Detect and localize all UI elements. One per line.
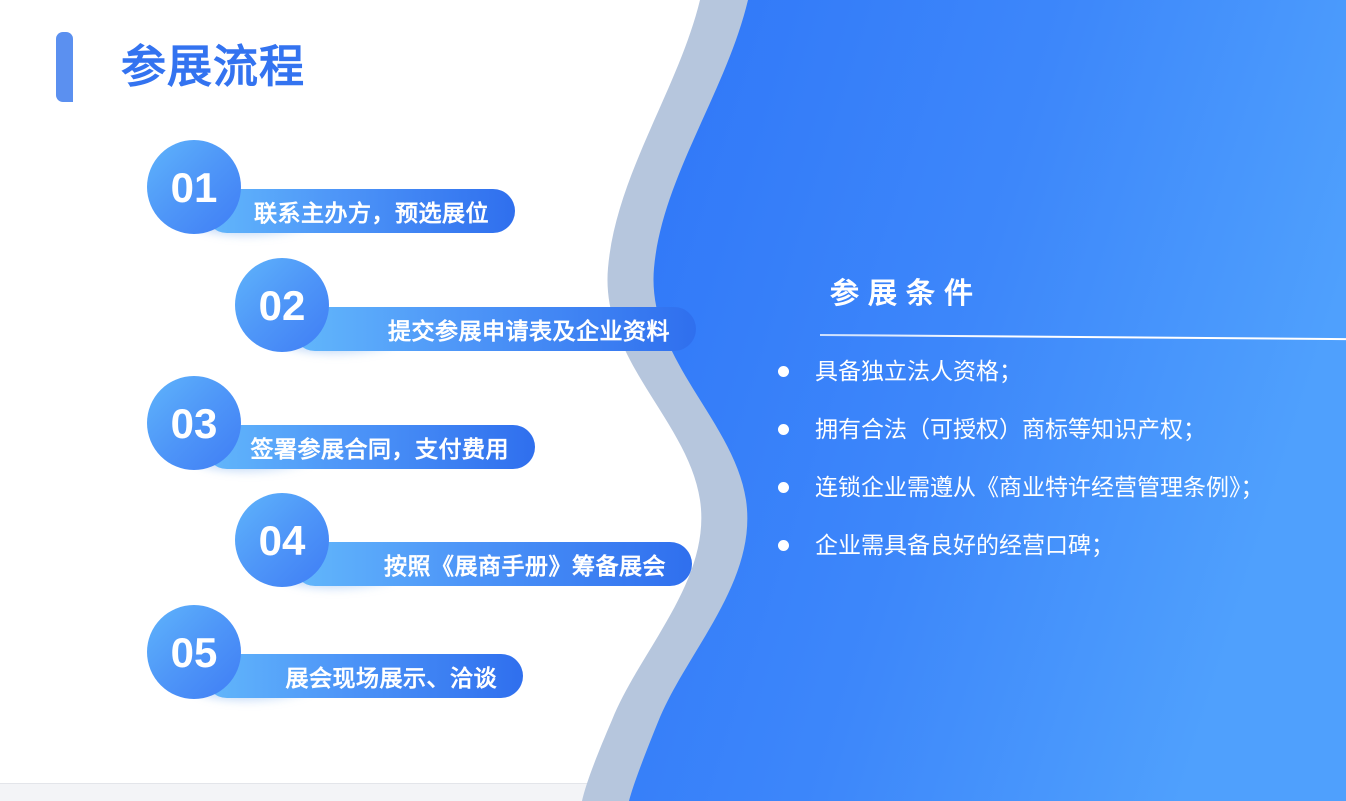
- step-pill-05[interactable]: 展会现场展示、洽谈: [205, 654, 523, 698]
- page-title: 参展流程: [121, 30, 305, 104]
- page-title-row: 参展流程: [56, 30, 305, 104]
- step-pill-02[interactable]: 提交参展申请表及企业资料: [293, 307, 696, 351]
- bullet-text: 具备独立法人资格；: [815, 356, 1022, 386]
- title-accent-bar: [56, 32, 73, 102]
- step-label-02: 提交参展申请表及企业资料: [388, 312, 670, 346]
- step-label-03: 签署参展合同，支付费用: [251, 430, 510, 464]
- step-label-04: 按照《展商手册》筹备展会: [384, 547, 666, 581]
- list-item: 企业需具备良好的经营口碑；: [760, 530, 1346, 560]
- step-number-04: 04: [259, 520, 306, 562]
- step-pill-03[interactable]: 签署参展合同，支付费用: [205, 425, 535, 469]
- bullet-dot-icon: [778, 482, 789, 493]
- list-item: 具备独立法人资格；: [760, 356, 1346, 386]
- step-pill-01[interactable]: 联系主办方，预选展位: [205, 189, 515, 233]
- step-number-03: 03: [171, 403, 218, 445]
- bullet-dot-icon: [778, 366, 789, 377]
- requirements-panel: 参展条件 具备独立法人资格； 拥有合法（可授权）商标等知识产权； 连锁企业需遵从…: [760, 270, 1346, 312]
- bullet-dot-icon: [778, 424, 789, 435]
- bullet-text: 拥有合法（可授权）商标等知识产权；: [815, 414, 1206, 444]
- step-label-05: 展会现场展示、洽谈: [286, 659, 498, 693]
- step-circle-03[interactable]: 03: [147, 376, 241, 470]
- list-item: 拥有合法（可授权）商标等知识产权；: [760, 414, 1346, 444]
- bullet-text: 连锁企业需遵从《商业特许经营管理条例》；: [815, 472, 1264, 502]
- step-number-01: 01: [171, 167, 218, 209]
- slide-canvas: 参展流程 联系主办方，预选展位 01 提交参展申请表及企业资料 02 签署参展合…: [0, 0, 1346, 801]
- step-number-02: 02: [259, 285, 306, 327]
- step-circle-04[interactable]: 04: [235, 493, 329, 587]
- step-number-05: 05: [171, 632, 218, 674]
- step-circle-02[interactable]: 02: [235, 258, 329, 352]
- bullet-text: 企业需具备良好的经营口碑；: [815, 530, 1114, 560]
- step-label-01: 联系主办方，预选展位: [254, 194, 489, 228]
- step-pill-04[interactable]: 按照《展商手册》筹备展会: [293, 542, 692, 586]
- bullet-dot-icon: [778, 540, 789, 551]
- step-circle-05[interactable]: 05: [147, 605, 241, 699]
- requirements-bullet-list: 具备独立法人资格； 拥有合法（可授权）商标等知识产权； 连锁企业需遵从《商业特许…: [760, 356, 1346, 588]
- list-item: 连锁企业需遵从《商业特许经营管理条例》；: [760, 472, 1346, 502]
- requirements-heading: 参展条件: [830, 270, 1346, 312]
- step-circle-01[interactable]: 01: [147, 140, 241, 234]
